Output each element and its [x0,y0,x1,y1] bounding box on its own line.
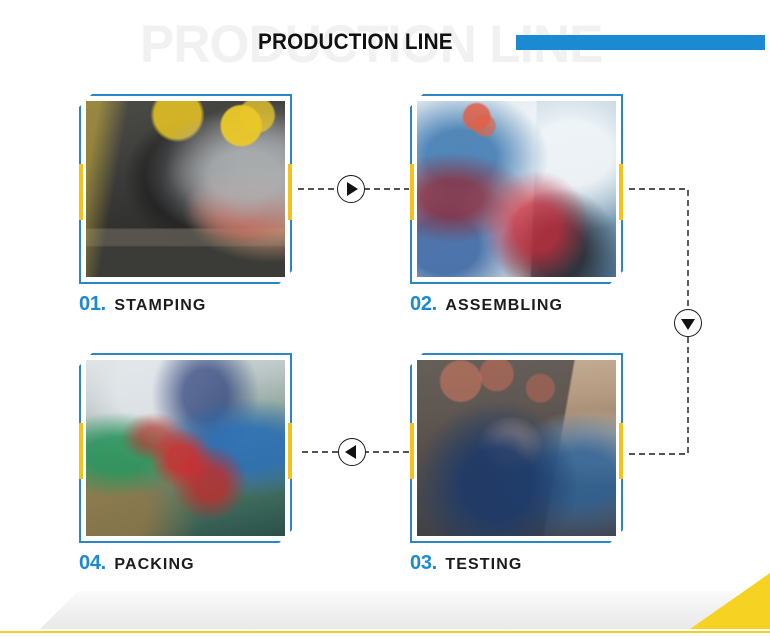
footer-yellow-line [0,631,770,633]
packing-conveyor-photo [86,360,285,536]
accent-bar-right [619,164,628,220]
step-label: 04. PACKING [79,553,195,573]
page-title: PRODUCTION LINE [258,31,453,53]
footer-gray-band [0,591,740,629]
accent-bar-left [405,164,414,220]
step-caption: PACKING [114,556,194,573]
stamping-press-machine-photo [86,101,285,277]
photo-frame [79,94,292,284]
step-label: 03. TESTING [410,553,522,573]
photo-frame [410,94,623,284]
arrow-left-step3-to-step4-icon [338,438,366,466]
page-header: PRODUCTION LINE PRODUCTION LINE [0,0,770,85]
accent-bar-right [288,164,297,220]
assembly-line-workers-photo [417,101,616,277]
step-number: 03. [410,552,437,574]
triangle-down-icon [681,319,695,330]
photo-frame [79,353,292,543]
step-caption: TESTING [445,556,522,573]
accent-bar-left [74,164,83,220]
step-number: 04. [79,552,106,574]
step-number: 02. [410,293,437,315]
step-number: 01. [79,293,106,315]
step-card-assembling[interactable]: 02. ASSEMBLING [410,94,623,284]
step-label: 01. STAMPING [79,294,206,314]
accent-bar-right [288,423,297,479]
worker-testing-tool-photo [417,360,616,536]
step-caption: STAMPING [114,297,206,314]
step-card-packing[interactable]: 04. PACKING [79,353,292,543]
header-accent-bar [516,35,765,50]
accent-bar-right [619,423,628,479]
photo-frame [410,353,623,543]
step-card-stamping[interactable]: 01. STAMPING [79,94,292,284]
arrow-down-step2-to-step3-icon [674,309,702,337]
accent-bar-left [74,423,83,479]
arrow-right-step1-to-step2-icon [337,175,365,203]
triangle-right-icon [347,182,358,196]
step-label: 02. ASSEMBLING [410,294,563,314]
step-card-testing[interactable]: 03. TESTING [410,353,623,543]
triangle-left-icon [345,445,356,459]
step-caption: ASSEMBLING [445,297,563,314]
accent-bar-left [405,423,414,479]
